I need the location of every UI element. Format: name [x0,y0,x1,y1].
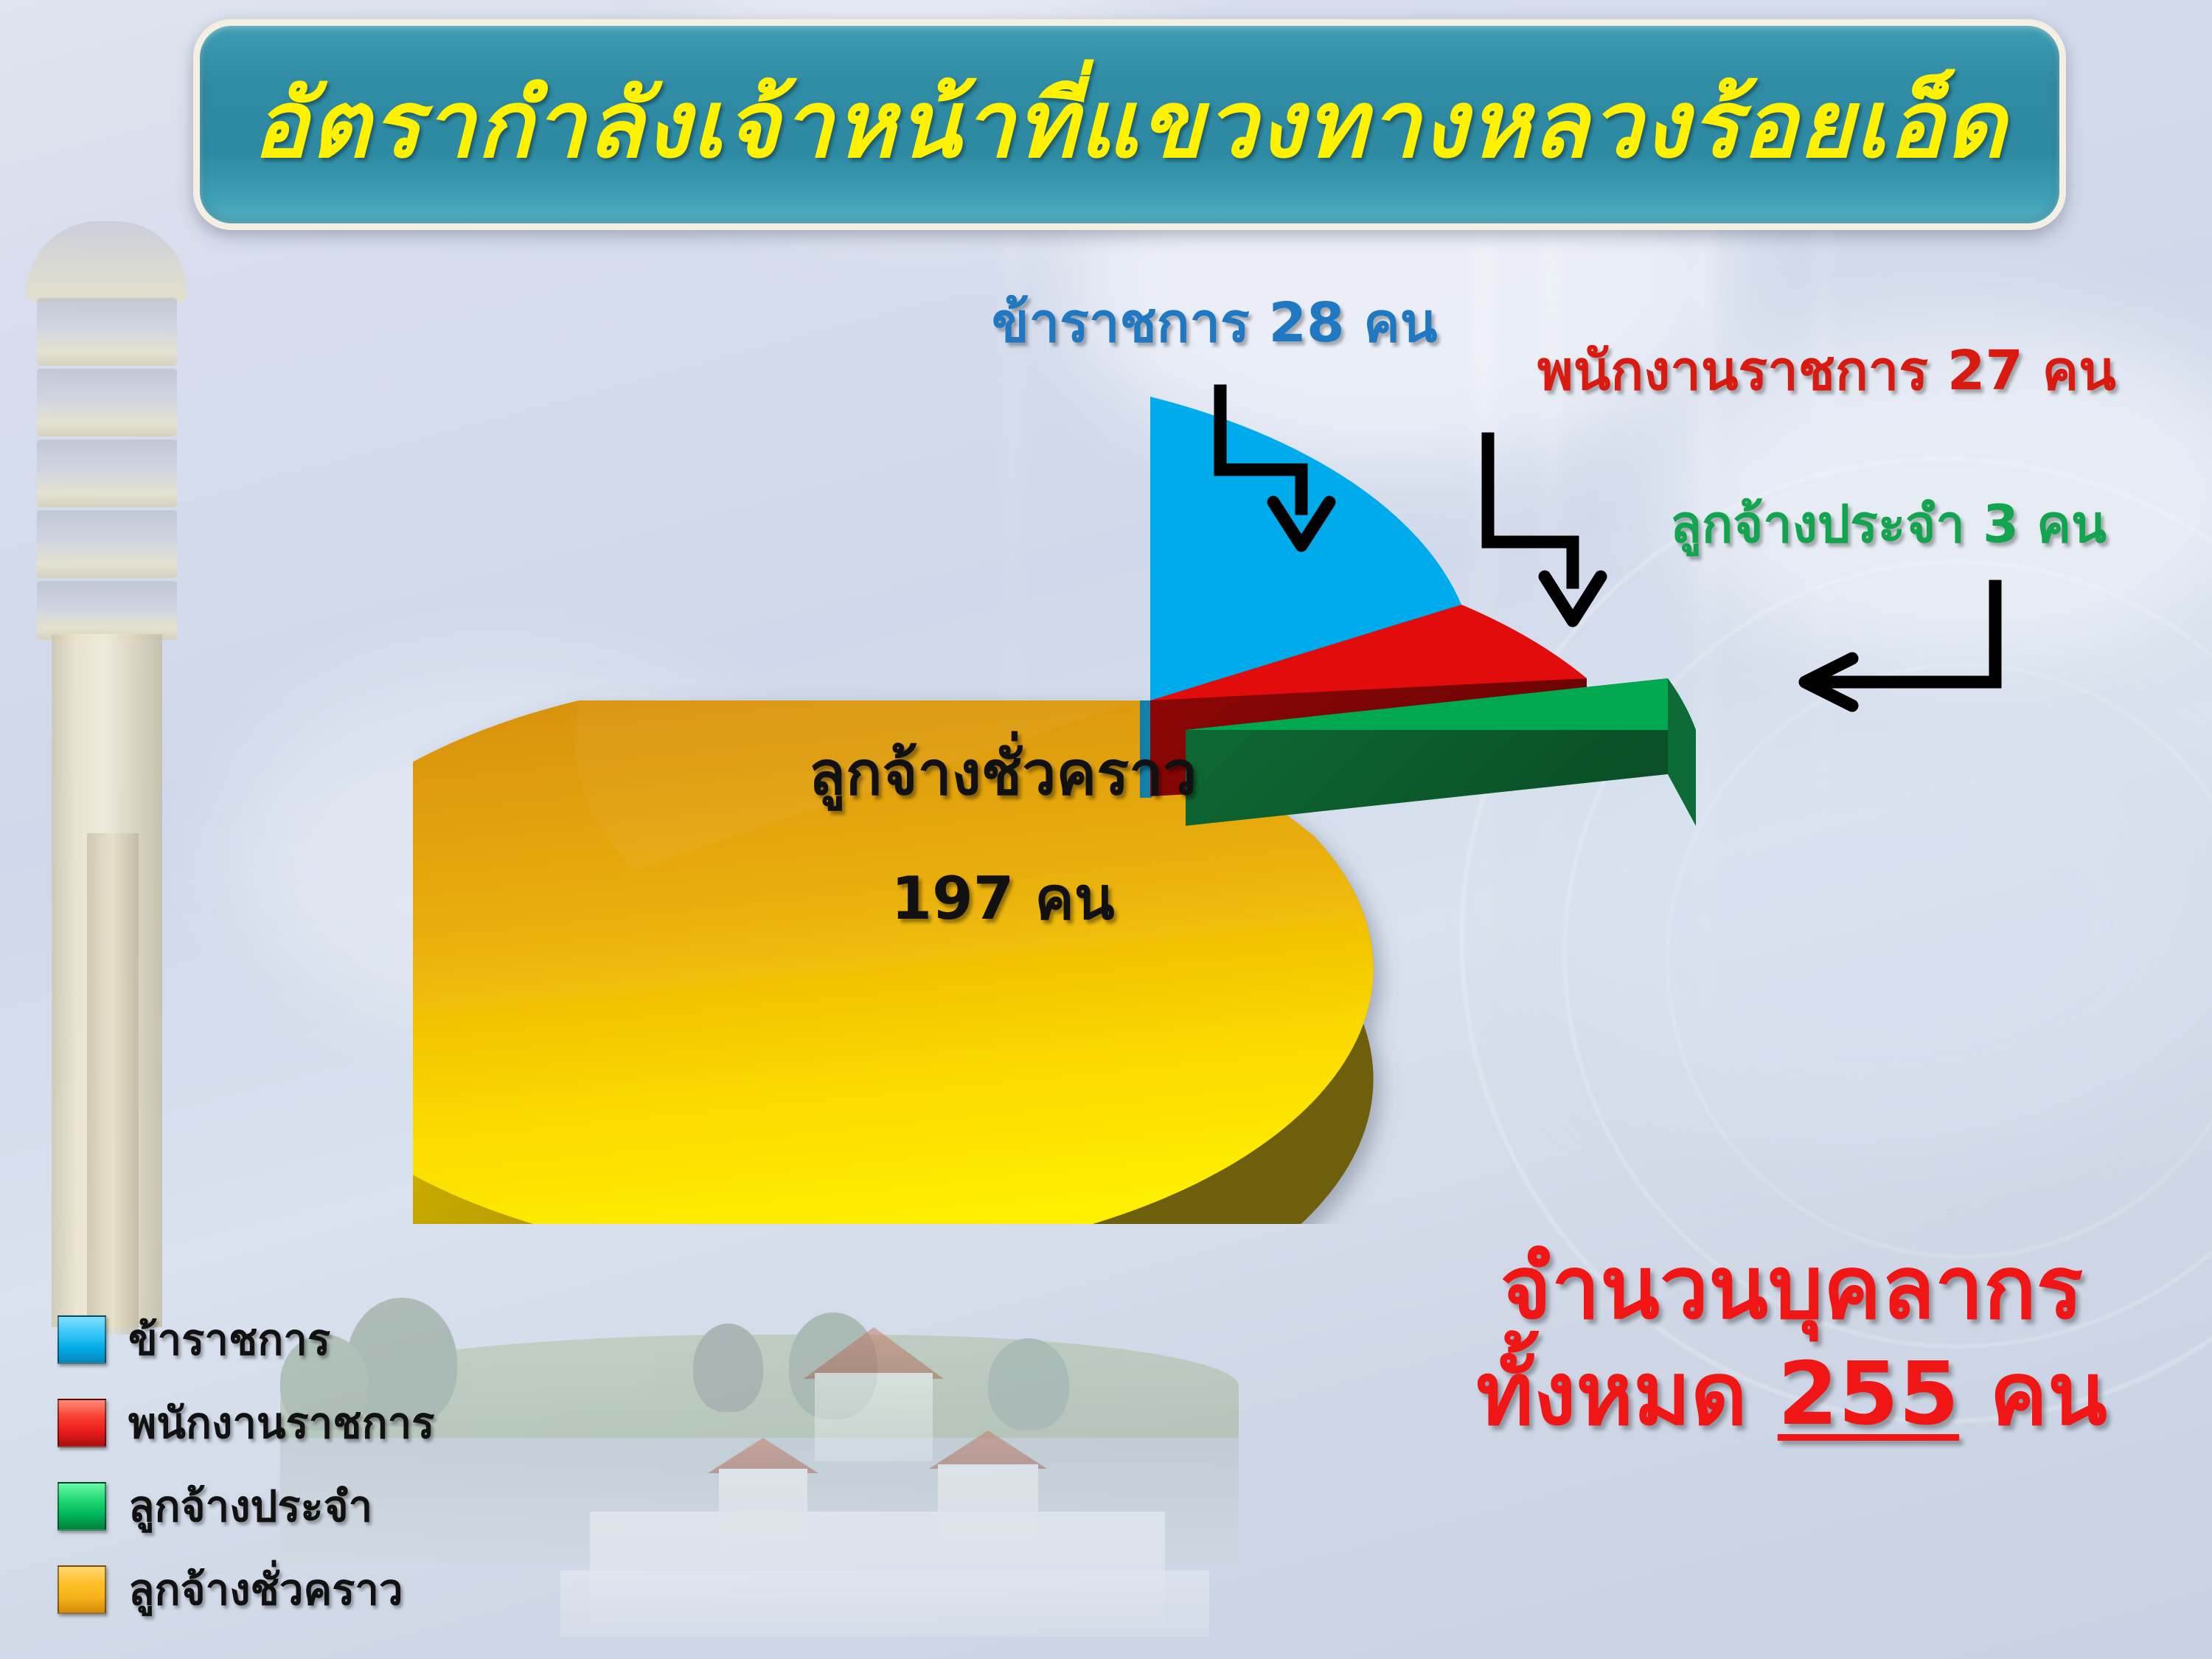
total-line-1: จำนวนบุคลากร [1386,1239,2197,1336]
temple-complex-image [560,1327,1224,1637]
legend-swatch-blue [58,1315,106,1364]
pie-slice-label-temporary: ลูกจ้างชั่วคราว [664,734,1342,815]
legend-item-government-employee[interactable]: พนักงานราชการ [58,1381,618,1464]
legend-label: ลูกจ้างประจำ [128,1472,372,1540]
total-suffix: คน [1959,1343,2107,1444]
legend-label: ข้าราชการ [128,1305,330,1374]
total-number: 255 [1778,1343,1959,1444]
legend-item-temporary-employee[interactable]: ลูกจ้างชั่วคราว [58,1548,618,1631]
chart-legend: ข้าราชการ พนักงานราชการ ลูกจ้างประจำ ลูก… [58,1298,618,1631]
legend-swatch-yellow [58,1565,106,1614]
legend-label: พนักงานราชการ [128,1388,434,1457]
title-banner: อัตรากำลังเจ้าหน้าที่แขวงทางหลวงร้อยเอ็ด [193,19,2066,230]
pie-slice-value-temporary: 197 คน [664,852,1342,945]
legend-swatch-red [58,1399,106,1447]
legend-label: ลูกจ้างชั่วคราว [128,1555,403,1624]
legend-item-civil-servant[interactable]: ข้าราชการ [58,1298,618,1381]
total-line-2: ทั้งหมด 255 คน [1386,1345,2197,1442]
legend-item-permanent-employee[interactable]: ลูกจ้างประจำ [58,1464,618,1548]
callout-label-government-employee: พนักงานราชการ 27 คน [1537,343,2116,400]
callout-label-permanent-employee: ลูกจ้างประจำ 3 คน [1670,498,2107,552]
callout-label-civil-servant: ข้าราชการ 28 คน [992,295,1437,352]
page-title: อัตรากำลังเจ้าหน้าที่แขวงทางหลวงร้อยเอ็ด [252,78,2007,171]
total-personnel-callout: จำนวนบุคลากร ทั้งหมด 255 คน [1386,1239,2197,1442]
presentation-slide: อัตรากำลังเจ้าหน้าที่แขวงทางหลวงร้อยเอ็ด [0,0,2212,1659]
total-prefix: ทั้งหมด [1476,1343,1778,1444]
column-landmark-image [22,221,192,1327]
legend-swatch-green [58,1482,106,1531]
